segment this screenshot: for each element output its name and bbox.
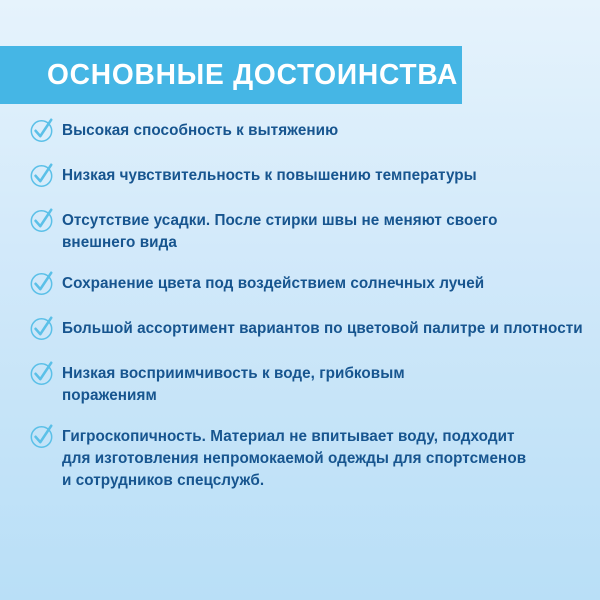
check-circle-icon (29, 207, 55, 233)
list-item-label: Гигроскопичность. Материал не впитывает … (62, 425, 526, 492)
list-item-label: Большой ассортимент вариантов по цветово… (62, 317, 583, 340)
check-circle-icon (29, 270, 55, 296)
list-item: Гигроскопичность. Материал не впитывает … (0, 425, 600, 492)
list-item-line: внешнего вида (62, 232, 497, 254)
list-item-line: Гигроскопичность. Материал не впитывает … (62, 426, 526, 448)
list-item: Низкая восприимчивость к воде, грибковым… (0, 362, 600, 407)
list-item-line: для изготовления непромокаемой одежды дл… (62, 448, 526, 470)
infographic-slide: ОСНОВНЫЕ ДОСТОИНСТВА Высокая способность… (0, 0, 600, 600)
check-circle-icon (29, 360, 55, 386)
list-item-line: Сохранение цвета под воздействием солнеч… (62, 273, 484, 295)
list-item: Низкая чувствительность к повышению темп… (0, 164, 600, 188)
check-circle-icon (29, 315, 55, 341)
list-item-line: Низкая чувствительность к повышению темп… (62, 165, 477, 187)
list-item-line: Большой ассортимент вариантов по цветово… (62, 318, 583, 340)
list-item-line: Низкая восприимчивость к воде, грибковым (62, 363, 405, 385)
check-circle-icon (29, 117, 55, 143)
list-item: Высокая способность к вытяжению (0, 119, 600, 143)
list-item-label: Сохранение цвета под воздействием солнеч… (62, 272, 484, 295)
page-title: ОСНОВНЫЕ ДОСТОИНСТВА (47, 61, 458, 90)
advantages-list: Высокая способность к вытяжениюНизкая чу… (0, 119, 600, 510)
list-item-label: Низкая восприимчивость к воде, грибковым… (62, 362, 405, 407)
check-circle-icon (29, 423, 55, 449)
list-item: Сохранение цвета под воздействием солнеч… (0, 272, 600, 296)
check-circle-icon (29, 162, 55, 188)
list-item-label: Низкая чувствительность к повышению темп… (62, 164, 477, 187)
list-item-label: Высокая способность к вытяжению (62, 119, 338, 142)
list-item: Большой ассортимент вариантов по цветово… (0, 317, 600, 341)
header-banner-content: ОСНОВНЫЕ ДОСТОИНСТВА (0, 46, 462, 104)
list-item: Отсутствие усадки. После стирки швы не м… (0, 209, 600, 254)
list-item-line: Высокая способность к вытяжению (62, 120, 338, 142)
list-item-label: Отсутствие усадки. После стирки швы не м… (62, 209, 497, 254)
list-item-line: Отсутствие усадки. После стирки швы не м… (62, 210, 497, 232)
list-item-line: и сотрудников спецслужб. (62, 470, 526, 492)
list-item-line: поражениям (62, 385, 405, 407)
